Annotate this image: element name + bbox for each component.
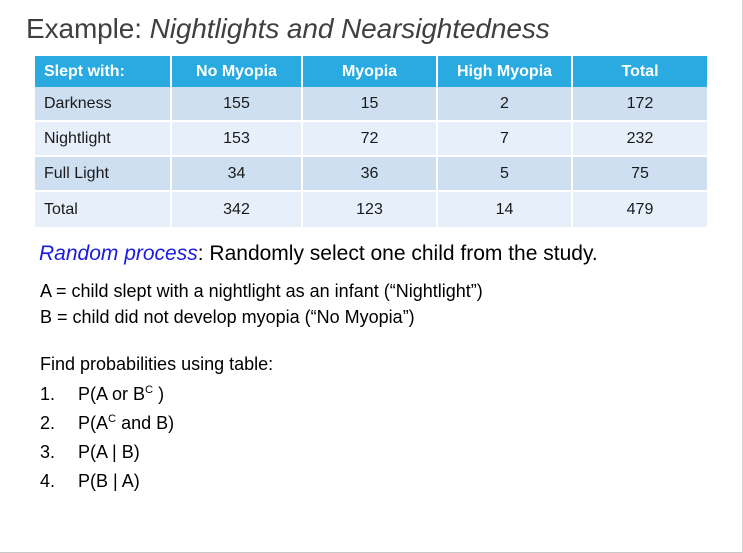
page-title: Example: Nightlights and Nearsightedness (26, 12, 550, 46)
item-expression-post: and B) (116, 413, 174, 433)
column-header-total: Total (573, 56, 707, 87)
cell-darkness-myopia: 15 (303, 87, 438, 122)
table-row: Full Light 34 36 5 75 (35, 157, 707, 192)
item-expression-pre: P(A | B) (78, 442, 140, 462)
find-probabilities-heading: Find probabilities using table: (40, 352, 273, 376)
event-a-definition: A = child slept with a nightlight as an … (40, 279, 483, 303)
column-header-slept-with: Slept with: (35, 56, 172, 87)
cell-full-light-high-myopia: 5 (438, 157, 573, 192)
item-superscript: C (145, 384, 153, 396)
list-item: 2.P(AC and B) (40, 409, 174, 438)
probability-question-list: 1.P(A or BC ) 2.P(AC and B) 3.P(A | B) 4… (40, 380, 174, 496)
cell-darkness-high-myopia: 2 (438, 87, 573, 122)
item-expression-pre: P(A or B (78, 384, 145, 404)
column-header-myopia: Myopia (303, 56, 438, 87)
list-item: 4.P(B | A) (40, 467, 174, 496)
item-superscript: C (108, 413, 116, 425)
cell-darkness-no-myopia: 155 (172, 87, 303, 122)
cell-total-high-myopia: 14 (438, 192, 573, 227)
cell-full-light-myopia: 36 (303, 157, 438, 192)
cell-total-no-myopia: 342 (172, 192, 303, 227)
table-row: Total 342 123 14 479 (35, 192, 707, 227)
item-number: 2. (40, 409, 78, 438)
cell-nightlight-total: 232 (573, 122, 707, 157)
event-b-definition: B = child did not develop myopia (“No My… (40, 305, 415, 329)
row-label-total: Total (35, 192, 172, 227)
cell-total-grand: 479 (573, 192, 707, 227)
cell-total-myopia: 123 (303, 192, 438, 227)
title-emphasis: Nightlights and Nearsightedness (150, 13, 550, 44)
cell-darkness-total: 172 (573, 87, 707, 122)
table-row: Darkness 155 15 2 172 (35, 87, 707, 122)
list-item: 3.P(A | B) (40, 438, 174, 467)
random-process-line: Random process: Randomly select one chil… (39, 241, 598, 267)
cell-nightlight-no-myopia: 153 (172, 122, 303, 157)
item-number: 4. (40, 467, 78, 496)
item-expression-post: ) (153, 384, 164, 404)
column-header-high-myopia: High Myopia (438, 56, 573, 87)
cell-nightlight-high-myopia: 7 (438, 122, 573, 157)
column-header-no-myopia: No Myopia (172, 56, 303, 87)
cell-full-light-no-myopia: 34 (172, 157, 303, 192)
random-process-text: : Randomly select one child from the stu… (198, 242, 598, 265)
slide-canvas: Example: Nightlights and Nearsightedness… (0, 0, 743, 553)
list-item: 1.P(A or BC ) (40, 380, 174, 409)
table-header-row: Slept with: No Myopia Myopia High Myopia… (35, 56, 707, 87)
row-label-nightlight: Nightlight (35, 122, 172, 157)
row-label-full-light: Full Light (35, 157, 172, 192)
item-expression-pre: P(B | A) (78, 471, 140, 491)
cell-full-light-total: 75 (573, 157, 707, 192)
title-lead: Example: (26, 13, 150, 44)
row-label-darkness: Darkness (35, 87, 172, 122)
item-number: 1. (40, 380, 78, 409)
cell-nightlight-myopia: 72 (303, 122, 438, 157)
item-expression-pre: P(A (78, 413, 108, 433)
table-row: Nightlight 153 72 7 232 (35, 122, 707, 157)
item-number: 3. (40, 438, 78, 467)
contingency-table: Slept with: No Myopia Myopia High Myopia… (35, 56, 707, 227)
random-process-label: Random process (39, 242, 198, 265)
